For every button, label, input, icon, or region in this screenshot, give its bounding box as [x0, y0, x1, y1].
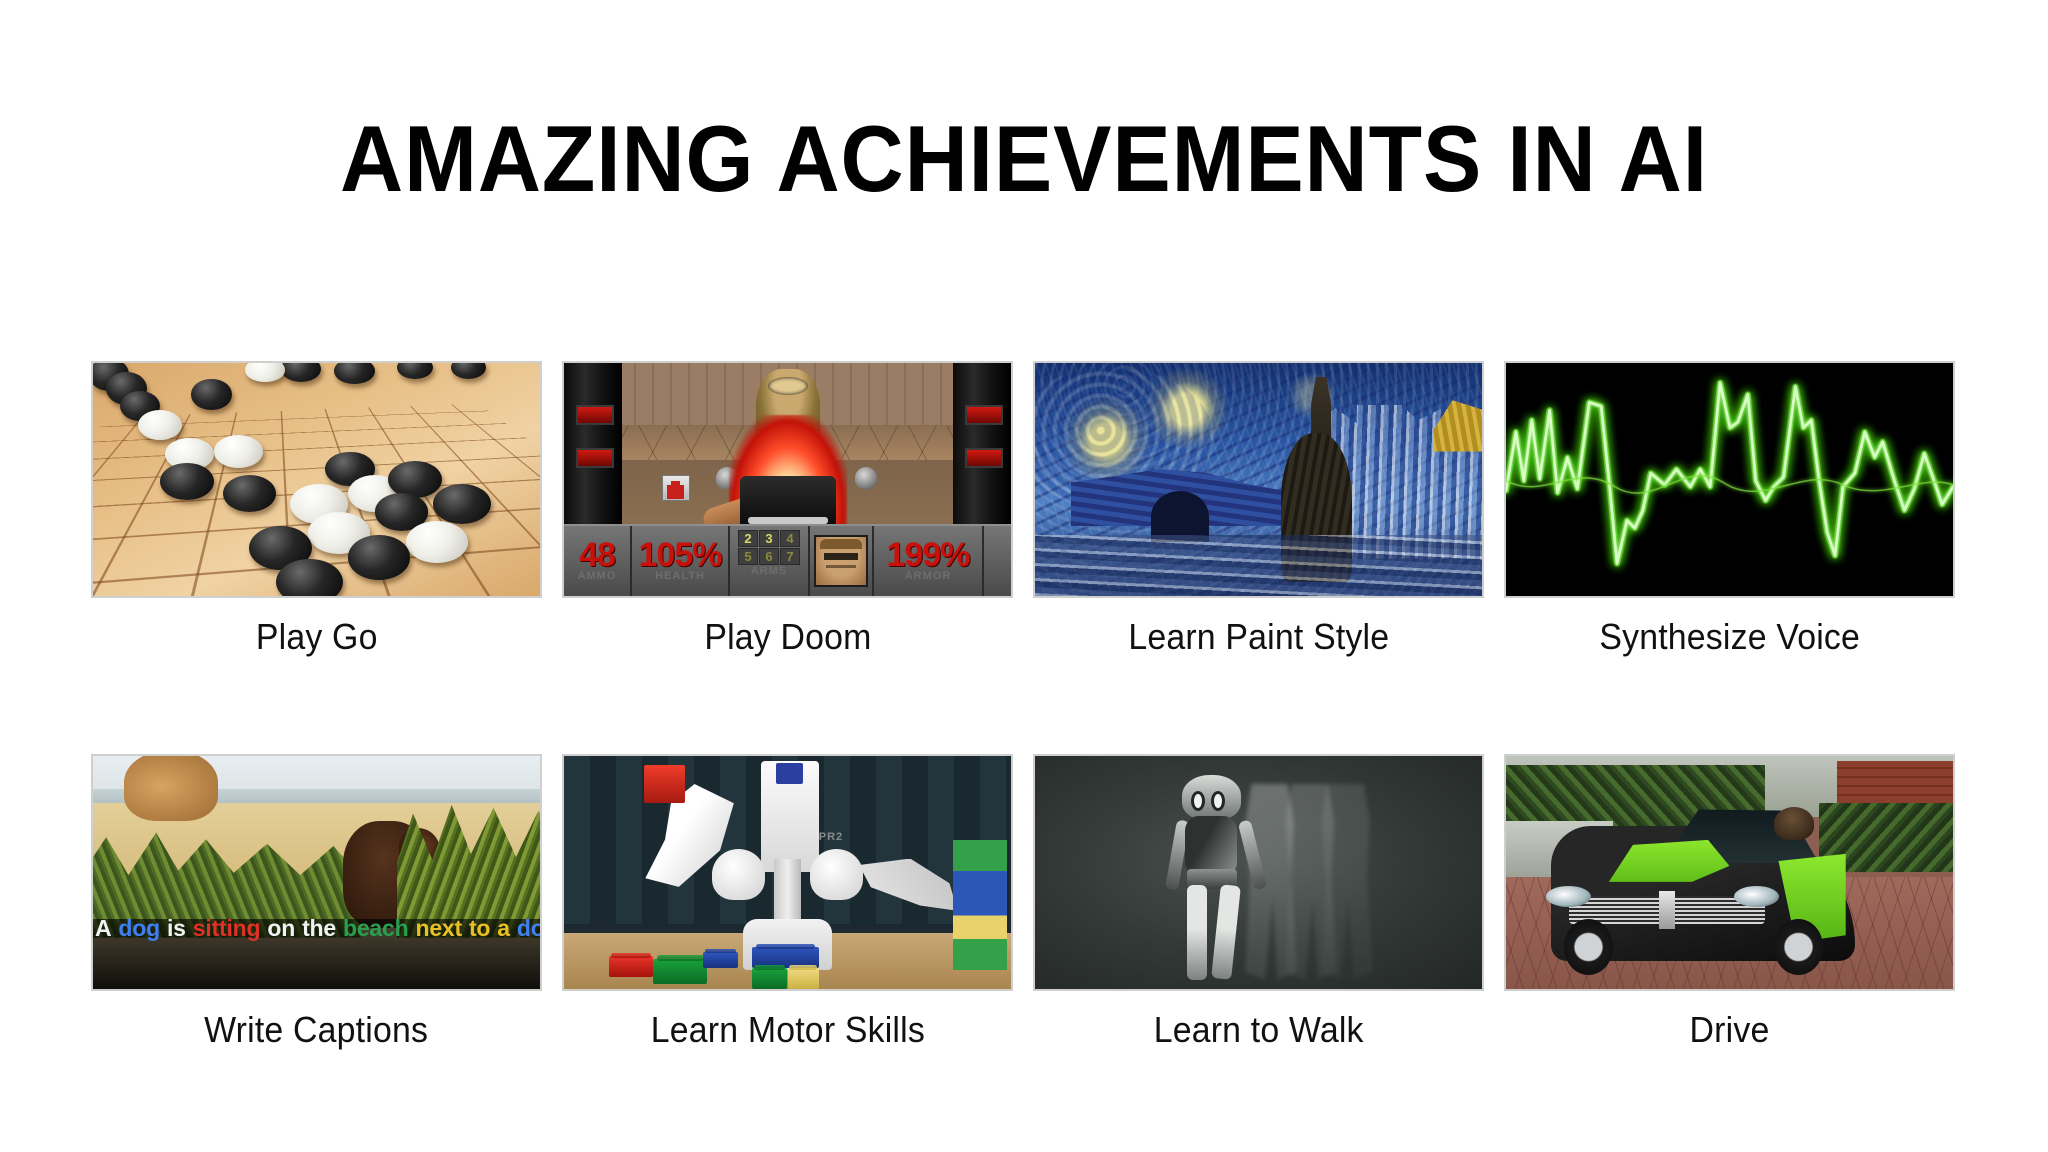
caption-word: is [167, 915, 186, 941]
caption-word: the [302, 915, 336, 941]
doom-arms-slot: 7 [780, 548, 800, 565]
pr2-head-screen [776, 763, 803, 784]
doom-status-bar: 48 AMMO 105% HEALTH 2 3 4 5 [564, 524, 1011, 596]
go-stone-black [348, 535, 411, 579]
generated-caption: Adogissittingonthebeachnexttoadog [95, 915, 540, 942]
tile-label-learn-to-walk: Learn to Walk [1154, 1009, 1364, 1051]
car-rear-wheel [1774, 919, 1823, 975]
doom-pillar-right [953, 363, 1011, 526]
tile-label-learn-paint-style: Learn Paint Style [1128, 616, 1389, 658]
doom-arms-slot: 2 [738, 530, 758, 547]
doom-keys-box [984, 526, 1013, 596]
humanoid-robot [1169, 775, 1258, 980]
doom-health-label: HEALTH [655, 570, 705, 582]
robot-head [1182, 775, 1241, 820]
slide-canvas: AMAZING ACHIEVEMENTS IN AI [0, 0, 2048, 1152]
go-stone-white [214, 435, 263, 468]
waveform-svg [1506, 363, 1953, 596]
go-stone-black [160, 463, 214, 500]
go-stone-black [433, 484, 491, 524]
voice-waveform-image[interactable] [1504, 361, 1955, 598]
lego-block-red [609, 956, 654, 977]
tile-learn-motor-skills[interactable]: PR2 Learn Motor Skills [552, 754, 1023, 1051]
go-board-image[interactable] [91, 361, 542, 598]
caption-word: A [95, 915, 111, 941]
walking-robot-image[interactable] [1033, 754, 1484, 991]
doom-medkit-icon [662, 475, 690, 501]
pr2-body-label: PR2 [819, 831, 843, 843]
caption-word: sitting [193, 915, 261, 941]
doom-ammo-box: 48 AMMO [564, 526, 632, 596]
caption-word: next [415, 915, 462, 941]
doom-arms-grid: 2 3 4 5 6 7 [738, 530, 800, 565]
caption-word: on [267, 915, 295, 941]
tile-synthesize-voice[interactable]: Synthesize Voice [1494, 361, 1965, 658]
lego-block-green [653, 959, 707, 985]
tile-play-go[interactable]: Play Go [81, 361, 552, 658]
doom-face-box [810, 526, 874, 596]
caption-word: dog [517, 915, 542, 941]
tile-label-play-doom: Play Doom [704, 616, 871, 658]
achievements-grid: Play Go [81, 361, 1965, 1051]
tile-learn-paint-style[interactable]: Learn Paint Style [1023, 361, 1494, 658]
go-stone-black [334, 361, 374, 384]
pr2-shoulder-left [712, 849, 766, 900]
doom-arms-slot: 4 [780, 530, 800, 547]
robot-chest [1185, 816, 1237, 873]
tile-label-synthesize-voice: Synthesize Voice [1599, 616, 1860, 658]
go-stone-black [191, 379, 231, 409]
doom-arms-slot: 3 [759, 530, 779, 547]
doom-armor-box: 199% ARMOR [874, 526, 984, 596]
car-front-wheel [1564, 919, 1613, 975]
lego-block-green-base [752, 968, 788, 989]
lego-block-yellow [788, 968, 819, 989]
style-transfer-image[interactable] [1033, 361, 1484, 598]
go-stone-white [245, 361, 285, 382]
doom-pillar-left [564, 363, 622, 526]
red-lego-block-held [644, 765, 684, 802]
tile-label-learn-motor-skills: Learn Motor Skills [650, 1009, 924, 1051]
tile-learn-to-walk[interactable]: Learn to Walk [1023, 754, 1494, 1051]
tile-label-drive: Drive [1690, 1009, 1770, 1051]
doom-weapon [740, 476, 836, 528]
robot-eye-right-icon [1211, 791, 1225, 811]
doom-health-box: 105% HEALTH [632, 526, 730, 596]
doom-arms-slot: 5 [738, 548, 758, 565]
tile-play-doom[interactable]: 48 AMMO 105% HEALTH 2 3 4 5 [552, 361, 1023, 658]
grid-row-1: Play Go [81, 361, 1965, 658]
robot-leg-left [1187, 885, 1207, 979]
doom-screenshot-image[interactable]: 48 AMMO 105% HEALTH 2 3 4 5 [562, 361, 1013, 598]
starry-river [1035, 535, 1482, 596]
doom-arms-slot: 6 [759, 548, 779, 565]
robot-motion-ghost [1308, 784, 1384, 980]
doom-armor-label: ARMOR [905, 570, 952, 582]
caption-word: to [469, 915, 490, 941]
tile-label-play-go: Play Go [256, 616, 378, 658]
caption-word: dog [118, 915, 160, 941]
caption-word: a [497, 915, 510, 941]
pr2-shoulder-right [810, 849, 864, 900]
doom-ammo-value: 48 [579, 540, 615, 570]
tile-write-captions[interactable]: Adogissittingonthebeachnexttoadog Write … [81, 754, 552, 1051]
caption-word: beach [343, 915, 408, 941]
lego-block-blue-small [703, 952, 739, 968]
doom-ammo-label: AMMO [578, 570, 617, 582]
pr2-robot-image[interactable]: PR2 [562, 754, 1013, 991]
self-driving-car-image[interactable] [1504, 754, 1955, 991]
doom-skull-decor-icon [855, 467, 877, 489]
grid-row-2: Adogissittingonthebeachnexttoadog Write … [81, 754, 1965, 1051]
car-driver [1774, 807, 1814, 840]
go-stone-white [138, 410, 183, 440]
page-title: AMAZING ACHIEVEMENTS IN AI [72, 112, 1977, 206]
doom-arms-label: ARMS [751, 565, 787, 577]
go-stone-black [397, 361, 433, 379]
doom-doomguy-face-icon [814, 535, 868, 587]
go-stone-black [451, 361, 487, 379]
tile-label-write-captions: Write Captions [205, 1009, 429, 1051]
doom-arms-box: 2 3 4 5 6 7 ARMS [730, 526, 810, 596]
dog-light-brown [124, 754, 218, 821]
doom-armor-value: 199% [887, 540, 970, 570]
doom-health-value: 105% [639, 540, 722, 570]
lego-tower [953, 840, 1007, 970]
captioning-image[interactable]: Adogissittingonthebeachnexttoadog [91, 754, 542, 991]
robot-leg-right [1211, 885, 1240, 981]
robot-eye-left-icon [1191, 791, 1205, 811]
go-stone-black [281, 361, 321, 382]
go-stone-black [223, 475, 277, 512]
tile-drive[interactable]: Drive [1494, 754, 1965, 1051]
